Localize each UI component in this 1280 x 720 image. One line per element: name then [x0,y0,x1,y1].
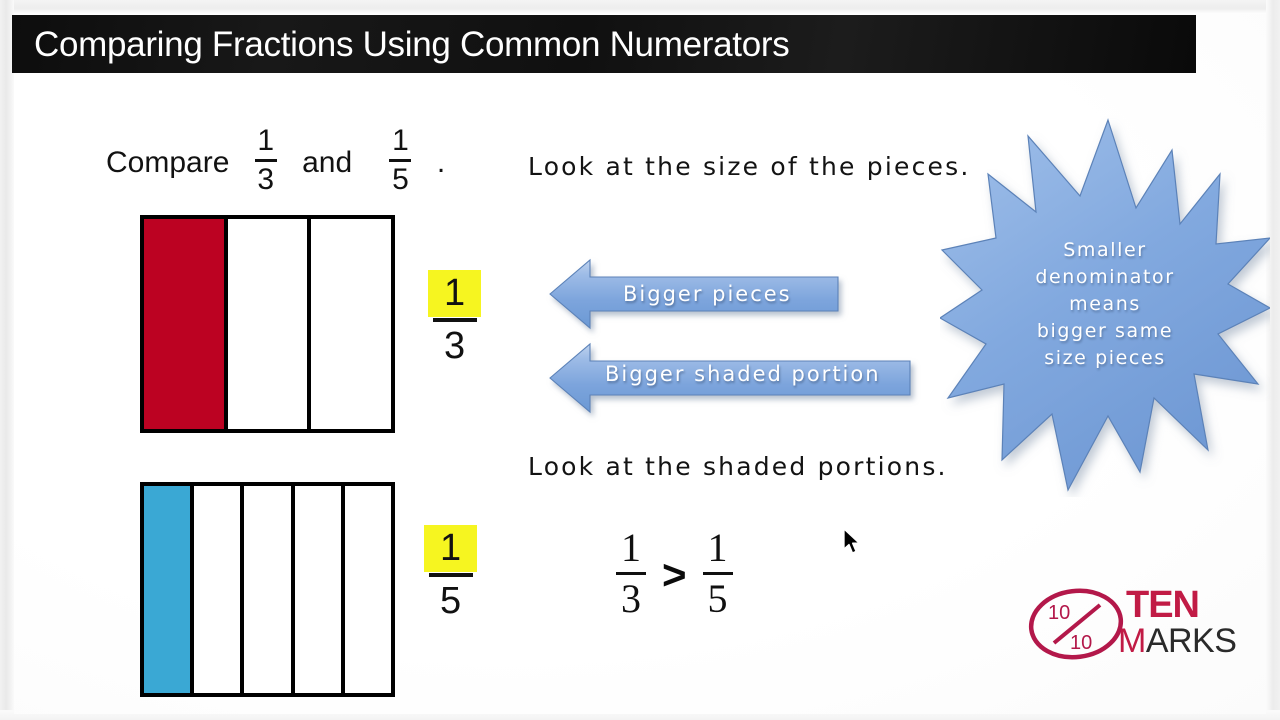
numerator: 1 [621,528,641,570]
logo-word-marks: MARKS [1118,624,1236,658]
denominator: 5 [708,577,728,619]
numerator-highlighted: 1 [424,525,477,572]
tenmarks-logo: 10 10 TEN MARKS [1026,585,1241,665]
logo-mark-bottom: 10 [1070,632,1092,654]
page-edge-left [0,0,14,720]
fraction-bar-line [433,318,477,322]
mouse-cursor-icon [843,528,865,558]
compare-prompt: Compare 1 3 and 1 5 . [106,128,445,197]
fraction-bar-line [255,159,277,162]
fraction-model-thirds [140,215,395,433]
fraction-label-one-fifth: 1 5 [424,525,477,620]
starburst-callout: Smaller denominator means bigger same si… [940,112,1270,497]
bigger-pieces-arrow: Bigger pieces [550,258,840,330]
compare-verb: Compare [106,146,229,180]
fraction-cell [194,486,244,693]
logo-mark-top: 10 [1048,602,1070,624]
prompt-fraction-one-third: 1 3 [253,126,278,195]
fraction-cell [311,219,391,429]
comparison-fraction-left: 1 3 [616,528,646,619]
fraction-bar-line [703,572,733,575]
tenmarks-logo-mark: 10 10 [1026,585,1126,663]
fraction-cell [295,486,345,693]
fraction-cell-shaded [144,219,228,429]
fraction-label-one-third: 1 3 [428,270,481,365]
page-edge-top [0,0,1280,14]
compare-conjunction: and [302,146,352,180]
page-title: Comparing Fractions Using Common Numerat… [34,25,789,65]
title-bar: Comparing Fractions Using Common Numerat… [12,15,1196,73]
greater-than-operator: > [662,551,687,599]
fraction-cell [244,486,294,693]
logo-marks-rest: ARKS [1146,622,1237,660]
logo-marks-initial: M [1118,622,1146,660]
arrow-label: Bigger shaded portion [605,362,881,386]
fraction-cell [228,219,312,429]
numerator-highlighted: 1 [428,270,481,317]
note-shaded-portions: Look at the shaded portions. [528,452,948,481]
slide-canvas: Comparing Fractions Using Common Numerat… [0,0,1280,720]
note-size-of-pieces: Look at the size of the pieces. [528,152,970,181]
fraction-bar-line [429,573,473,577]
denominator: 5 [388,164,413,195]
logo-word-ten: TEN [1126,587,1236,624]
fraction-bar-line [616,572,646,575]
numerator: 1 [253,126,278,157]
numerator: 1 [708,528,728,570]
arrow-label: Bigger pieces [623,282,792,306]
denominator: 3 [444,326,465,365]
fraction-cell-shaded [144,486,194,693]
fraction-model-fifths [140,482,395,697]
comparison-statement: 1 3 > 1 5 [616,528,733,619]
denominator: 3 [621,577,641,619]
tenmarks-logo-wordmark: TEN MARKS [1126,587,1236,658]
denominator: 5 [440,581,461,620]
numerator: 1 [388,126,413,157]
bigger-shaded-portion-arrow: Bigger shaded portion [550,340,912,414]
compare-period: . [437,146,445,180]
fraction-cell [345,486,391,693]
prompt-fraction-one-fifth: 1 5 [388,126,413,195]
fraction-bar-line [389,159,411,162]
comparison-fraction-right: 1 5 [703,528,733,619]
denominator: 3 [253,164,278,195]
